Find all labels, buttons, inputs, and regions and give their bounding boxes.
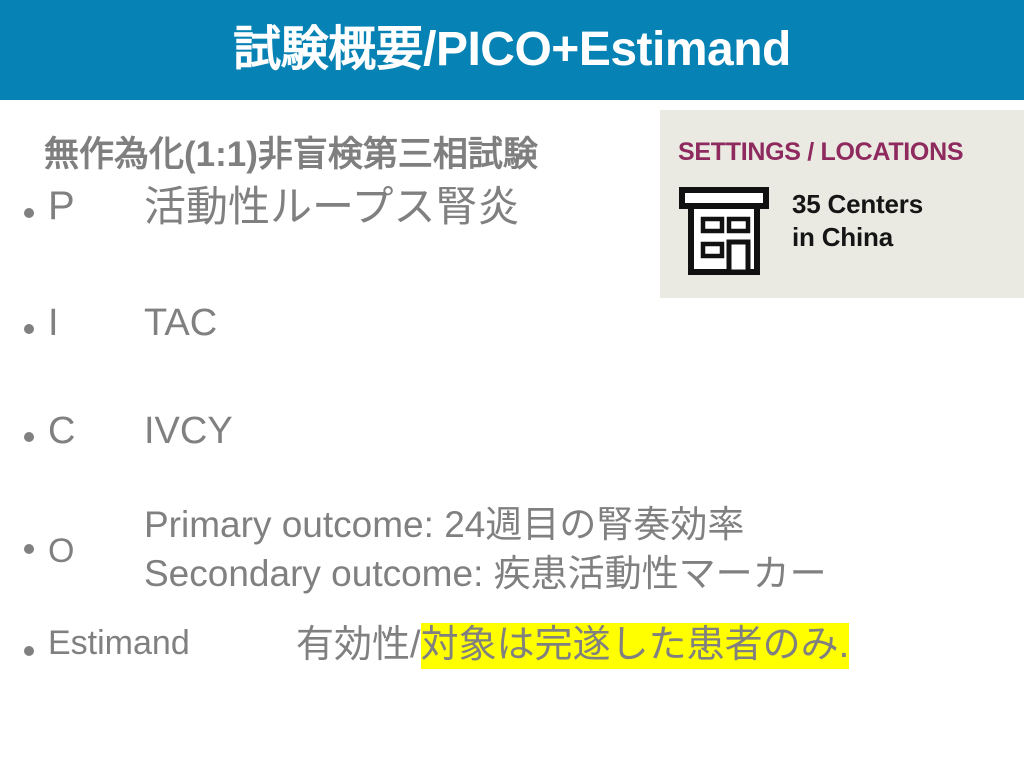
pico-value-outcome: Primary outcome: 24週目の腎奏効率 Secondary out… bbox=[144, 506, 827, 592]
pico-key-outcome: O bbox=[48, 534, 144, 568]
pico-row-intervention: I TAC bbox=[24, 304, 217, 342]
bullet-dot-icon bbox=[24, 208, 34, 218]
pico-key-estimand: Estimand bbox=[48, 626, 296, 660]
pico-row-population: P 活動性ループス腎炎 bbox=[24, 186, 519, 228]
bullet-dot-icon bbox=[24, 646, 34, 656]
pico-key-intervention: I bbox=[48, 304, 144, 342]
pico-row-comparator: C IVCY bbox=[24, 412, 233, 450]
pico-key-comparator: C bbox=[48, 412, 144, 450]
study-design-subtitle: 無作為化(1:1)非盲検第三相試験 bbox=[44, 126, 538, 177]
settings-locations-card: SETTINGS / LOCATIONS 35 Centers in China bbox=[660, 110, 1024, 298]
primary-outcome-text: Primary outcome: 24週目の腎奏効率 bbox=[144, 506, 827, 543]
bullet-dot-icon bbox=[24, 432, 34, 442]
pico-row-estimand: Estimand 有効性/対象は完遂した患者のみ. bbox=[24, 626, 849, 664]
pico-key-population: P bbox=[48, 186, 144, 226]
settings-locations-body: 35 Centers in China bbox=[678, 184, 923, 278]
centers-count-text: 35 Centers in China bbox=[792, 184, 923, 255]
estimand-plain-text: 有効性/ bbox=[296, 624, 421, 666]
slide: 試験概要/PICO+Estimand 無作為化(1:1)非盲検第三相試験 SET… bbox=[0, 0, 1024, 768]
pico-value-population: 活動性ループス腎炎 bbox=[144, 186, 519, 228]
pico-value-intervention: TAC bbox=[144, 304, 217, 342]
estimand-highlighted-text: 対象は完遂した患者のみ. bbox=[421, 623, 850, 669]
pico-value-comparator: IVCY bbox=[144, 412, 233, 450]
pico-row-outcome: O Primary outcome: 24週目の腎奏効率 Secondary o… bbox=[24, 506, 827, 592]
pico-value-estimand: 有効性/対象は完遂した患者のみ. bbox=[296, 626, 849, 664]
bullet-dot-icon bbox=[24, 544, 34, 554]
settings-locations-heading: SETTINGS / LOCATIONS bbox=[678, 138, 963, 167]
bullet-dot-icon bbox=[24, 324, 34, 334]
page-title: 試験概要/PICO+Estimand bbox=[0, 0, 1024, 100]
building-icon bbox=[678, 184, 770, 278]
secondary-outcome-text: Secondary outcome: 疾患活動性マーカー bbox=[144, 555, 827, 592]
